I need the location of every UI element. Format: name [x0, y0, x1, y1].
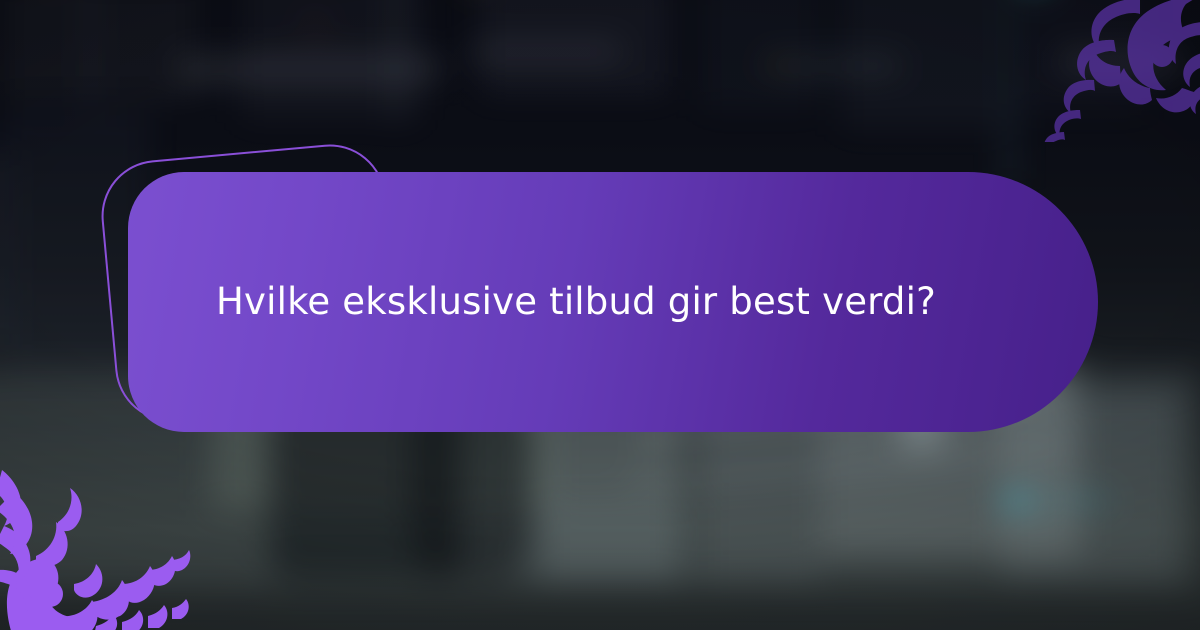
bg-machinery: [0, 150, 10, 350]
bg-slab: [700, 0, 820, 110]
bg-ledge: [470, 44, 620, 60]
bg-cyan-light: [1050, 496, 1110, 506]
bg-floor: [1000, 390, 1180, 580]
bg-light-spark: [310, 20, 320, 30]
bg-ledge: [790, 58, 900, 74]
question-card[interactable]: Hvilke eksklusive tilbud gir best verdi?: [128, 172, 1098, 432]
banner-canvas: Hvilke eksklusive tilbud gir best verdi?: [0, 0, 1200, 630]
bg-ledge: [1060, 52, 1180, 72]
bg-light-beam: [88, 0, 93, 110]
bg-light-beam: [1005, 0, 1014, 190]
bg-light-spark: [770, 60, 784, 70]
bg-ledge: [180, 58, 440, 80]
card-title: Hvilke eksklusive tilbud gir best verdi?: [216, 280, 936, 324]
bg-cyan-light: [1000, 490, 1036, 512]
bg-slab: [0, 0, 200, 100]
